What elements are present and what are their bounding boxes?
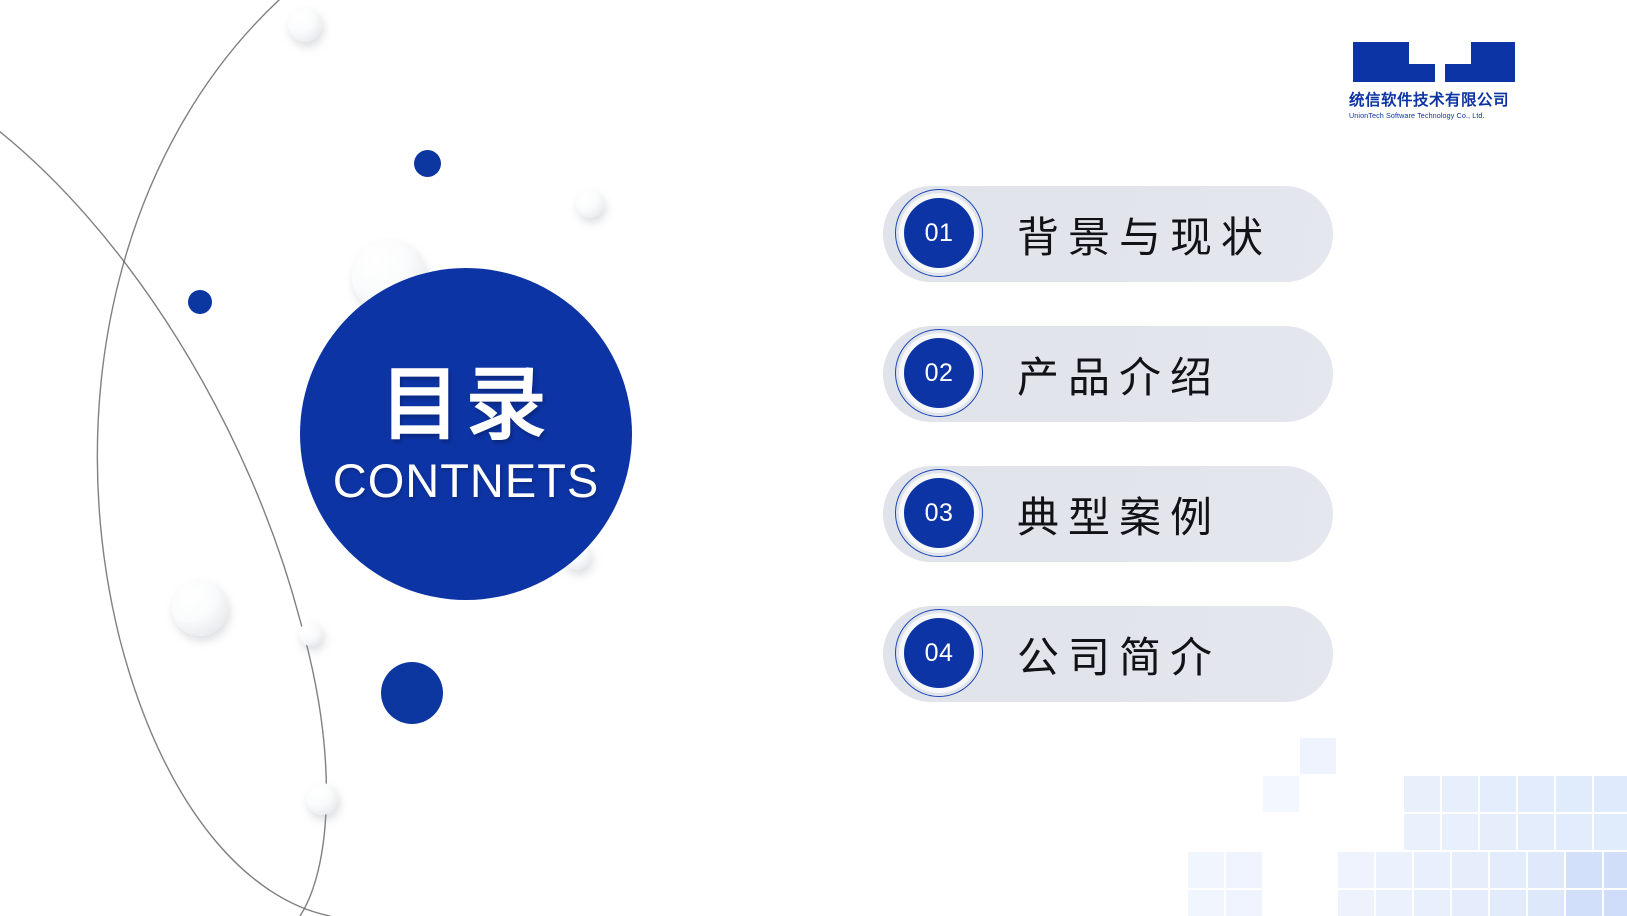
number-badge: 02 [895,329,985,419]
menu-item-label: 产品介绍 [1017,344,1221,405]
menu-item-02[interactable]: 02 产品介绍 [883,326,1333,422]
contents-title-circle: 目录 CONTNETS [300,268,632,600]
decorative-sphere [299,622,323,646]
slide-canvas: 目录 CONTNETS 01 背景与现状 02 产品介绍 03 [0,0,1627,916]
decorative-dot-blue [381,662,443,724]
grid-cell [1442,814,1478,850]
menu-item-label: 典型案例 [1017,484,1221,545]
grid-cell [1518,776,1554,812]
number-badge: 04 [895,609,985,699]
grid-cell [1226,890,1262,916]
grid-cell [1556,776,1592,812]
grid-cell [1226,852,1262,888]
grid-cell [1490,852,1526,888]
grid-cell [1188,890,1224,916]
grid-cell [1404,776,1440,812]
grid-cell [1414,890,1450,916]
grid-cell [1490,890,1526,916]
grid-cell [1604,852,1627,888]
arc-outer [97,0,330,916]
logo-left-shape [1353,42,1435,82]
badge-number: 03 [904,478,974,548]
logo-right-shape [1445,42,1515,82]
grid-cell [1376,852,1412,888]
grid-cell [1528,852,1564,888]
badge-number: 01 [904,198,974,268]
grid-cell [1594,776,1627,812]
grid-cell [1566,852,1602,888]
grid-cell [1594,814,1627,850]
badge-number: 02 [904,338,974,408]
menu-item-01[interactable]: 01 背景与现状 [883,186,1333,282]
grid-cell [1518,814,1554,850]
grid-cell [1338,852,1374,888]
grid-cell [1528,890,1564,916]
grid-cell [1376,890,1412,916]
grid-cell [1404,814,1440,850]
number-badge: 03 [895,469,985,559]
decorative-dot-blue [188,290,212,314]
background-decoration [0,0,1627,916]
contents-menu: 01 背景与现状 02 产品介绍 03 典型案例 04 [883,186,1333,746]
company-logo: 统信软件技术有限公司 UnionTech Software Technology… [1349,38,1519,120]
grid-cell [1604,890,1627,916]
grid-cell [1188,852,1224,888]
grid-cell [1566,890,1602,916]
decorative-sphere [172,580,228,636]
menu-item-04[interactable]: 04 公司简介 [883,606,1333,702]
decorative-sphere [288,8,322,42]
menu-item-03[interactable]: 03 典型案例 [883,466,1333,562]
grid-cell [1452,852,1488,888]
decorative-sphere [576,190,604,218]
decorative-dot-blue [414,150,441,177]
grid-cell [1452,890,1488,916]
logo-name-cn: 统信软件技术有限公司 [1349,88,1519,110]
menu-item-label: 背景与现状 [1017,204,1272,265]
grid-cell [1338,890,1374,916]
decorative-sphere [306,783,338,815]
grid-cell [1263,776,1299,812]
grid-cell [1442,776,1478,812]
grid-cell [1414,852,1450,888]
page-title-cn: 目录 [380,365,552,445]
menu-item-label: 公司简介 [1017,624,1221,685]
logo-name-en: UnionTech Software Technology Co., Ltd. [1349,111,1519,120]
badge-number: 04 [904,618,974,688]
logo-mark-icon [1349,38,1519,86]
arc-inner [0,120,326,916]
number-badge: 01 [895,189,985,279]
grid-cell [1480,776,1516,812]
page-title-en: CONTNETS [333,457,600,504]
grid-cell [1480,814,1516,850]
grid-cell [1556,814,1592,850]
